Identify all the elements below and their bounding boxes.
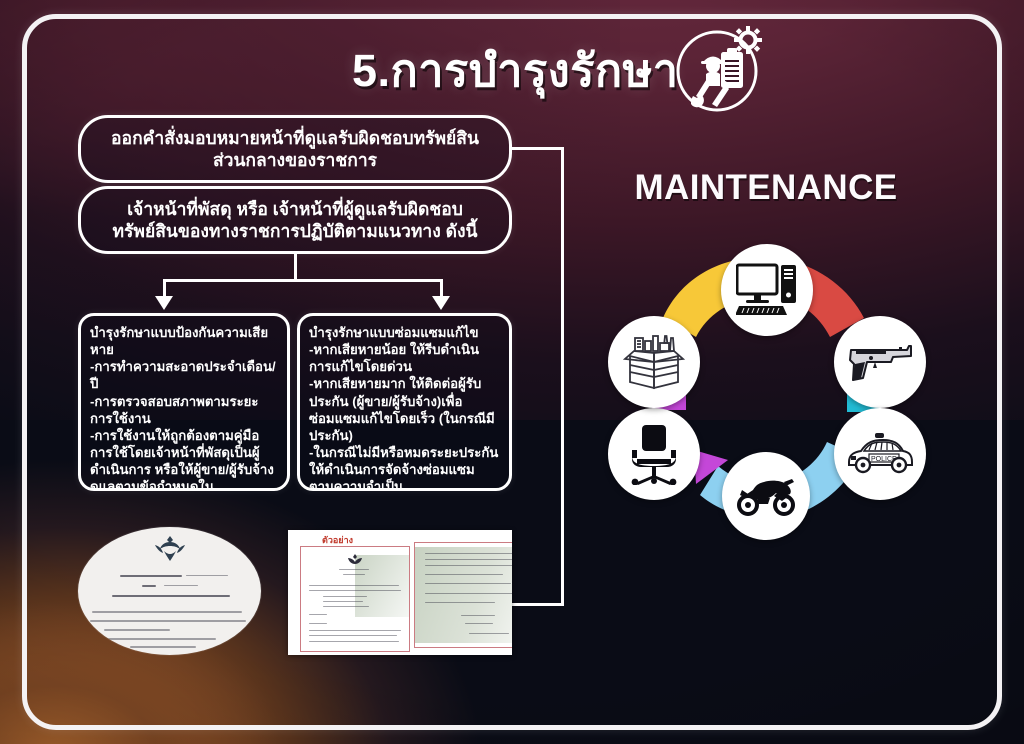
connector-vertical-main [294, 254, 297, 282]
maintenance-heading: MAINTENANCE [626, 168, 906, 208]
flow-step-order: ออกคำสั่งมอบหมายหน้าที่ดูแลรับผิดชอบทรัพ… [78, 115, 512, 183]
infographic-canvas: 5.การบำรุงรักษา [0, 0, 1024, 744]
sample-page-right [414, 542, 512, 648]
cycle-node-gun[interactable] [834, 316, 926, 408]
doc-text-line [142, 585, 156, 587]
sample-stamp-label: ตัวอย่าง [322, 533, 353, 547]
cycle-node-police-car[interactable]: POLICE [834, 408, 926, 500]
office-chair-icon [623, 423, 685, 485]
police-car-icon: POLICE [845, 432, 915, 476]
connector-side-top [512, 147, 564, 150]
doc-text-line [186, 575, 228, 576]
page-shade [414, 547, 512, 643]
garuda-emblem [153, 534, 187, 564]
arrow-down-left-icon [155, 296, 173, 310]
flow-step-officer: เจ้าหน้าที่พัสดุ หรือ เจ้าหน้าที่ผู้ดูแล… [78, 186, 512, 254]
desktop-computer-icon [736, 263, 798, 317]
branch-corrective-maintenance: บำรุงรักษาแบบซ่อมแซมแก้ไข -หากเสียหายน้อ… [297, 313, 512, 491]
asset-cycle-diagram: POLICE [606, 244, 926, 540]
motorcycle-icon [734, 476, 798, 516]
page-title: 5.การบำรุงรักษา [352, 34, 679, 106]
doc-text-line [164, 585, 198, 586]
supply-box-icon [621, 332, 687, 392]
doc-text-line [130, 646, 196, 648]
doc-text-line [108, 638, 216, 640]
cycle-node-office-chair[interactable] [608, 408, 700, 500]
doc-text-line [92, 611, 242, 613]
maintenance-worker-clipboard-icon [674, 24, 766, 116]
doc-text-line [104, 629, 170, 631]
cycle-node-supply-box[interactable] [608, 316, 700, 408]
connector-vertical-right [440, 279, 443, 297]
doc-text-line [112, 595, 230, 597]
connector-horizontal-branch [163, 279, 443, 282]
connector-side-vertical [561, 147, 564, 606]
handgun-icon [847, 340, 913, 384]
arrow-down-right-icon [432, 296, 450, 310]
cycle-node-computer[interactable] [721, 244, 813, 336]
cycle-node-motorcycle[interactable] [722, 452, 810, 540]
sample-page-left [300, 546, 410, 652]
crown-emblem-icon [346, 553, 364, 567]
doc-text-line [90, 620, 246, 622]
connector-vertical-left [163, 279, 166, 297]
branch-preventive-maintenance: บำรุงรักษาแบบป้องกันความเสียหาย -การทำคว… [78, 313, 290, 491]
sample-document-pair: ตัวอย่าง [288, 530, 512, 655]
official-order-document [78, 527, 261, 655]
doc-text-line [120, 575, 182, 577]
